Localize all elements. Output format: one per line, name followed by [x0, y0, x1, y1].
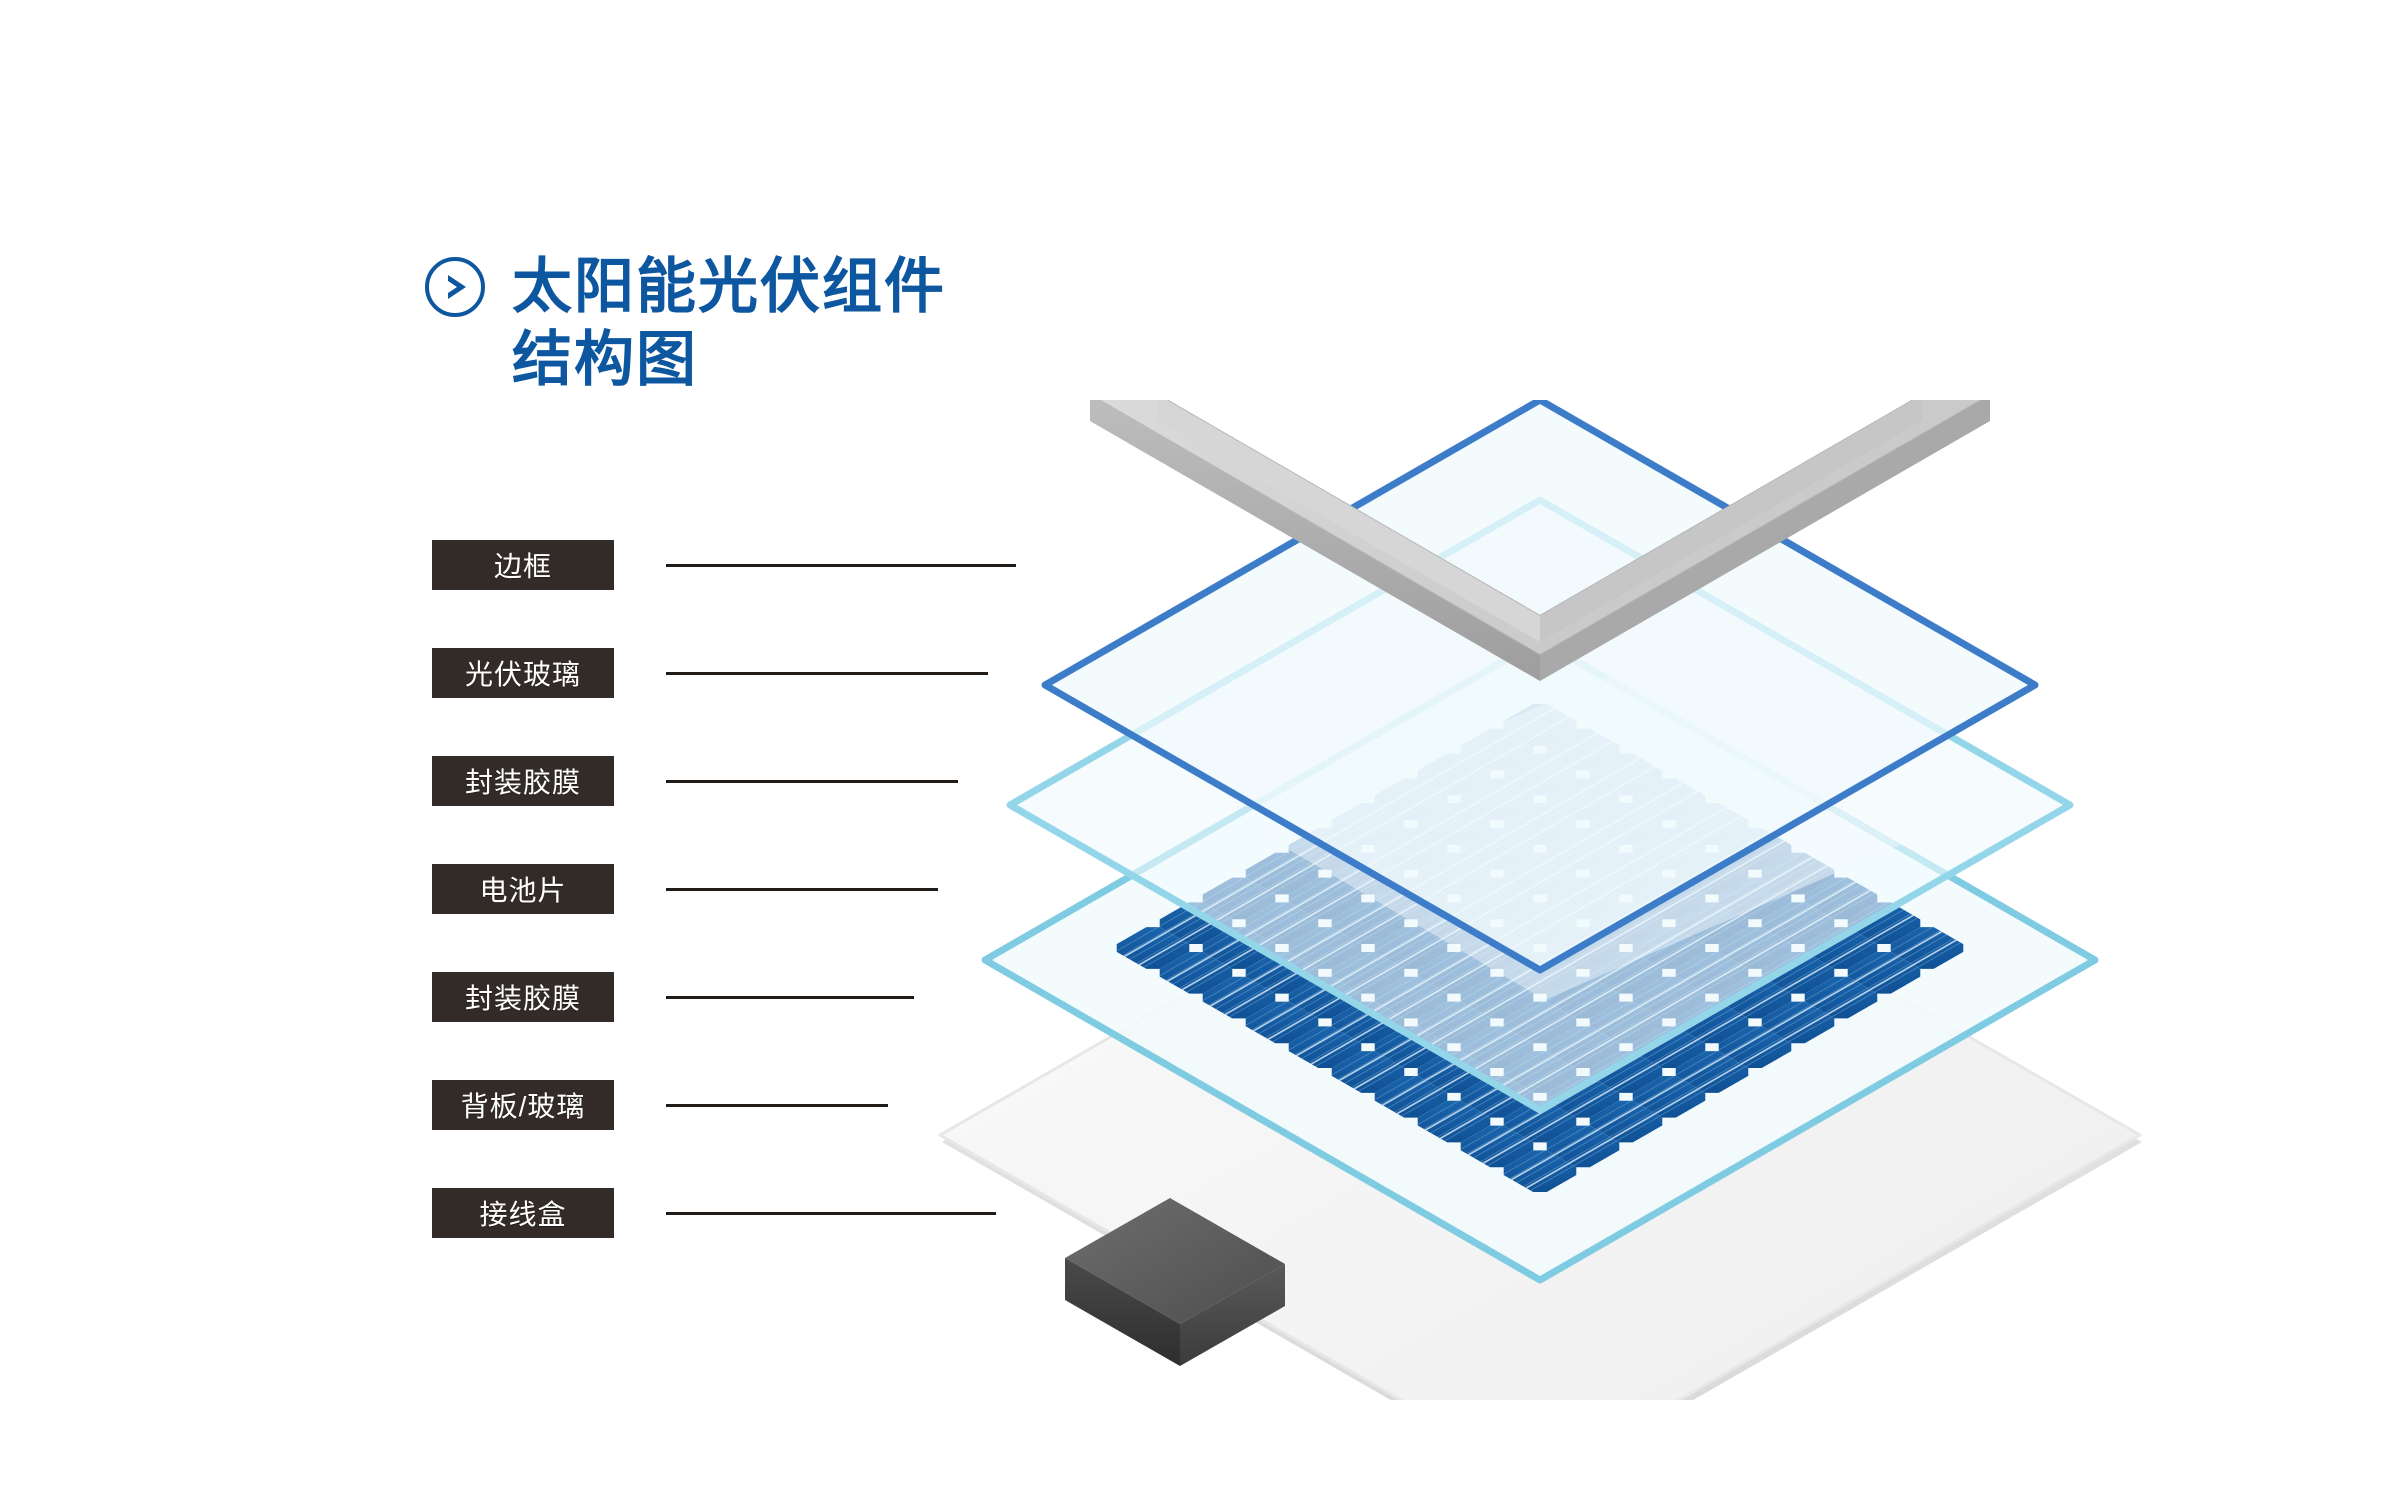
label-chip-junction-box: 接线盒 — [432, 1188, 614, 1238]
leader-line-encapsulant-bottom — [666, 996, 914, 999]
label-row-encapsulant-bottom[interactable]: 封装胶膜 — [432, 972, 914, 1022]
label-chip-frame: 边框 — [432, 540, 614, 590]
label-chip-pv-glass: 光伏玻璃 — [432, 648, 614, 698]
label-row-backsheet[interactable]: 背板/玻璃 — [432, 1080, 888, 1130]
page-title-block: 太阳能光伏组件 结构图 — [424, 250, 946, 396]
label-chip-encapsulant-top: 封装胶膜 — [432, 756, 614, 806]
page-canvas: 太阳能光伏组件 结构图 边框 光伏玻璃 封装胶膜 电池片 封装胶膜 背板/玻璃 — [0, 0, 2400, 1495]
label-row-solar-cell[interactable]: 电池片 — [432, 864, 938, 914]
label-chip-encapsulant-bottom: 封装胶膜 — [432, 972, 614, 1022]
chevron-right-circle-icon — [424, 256, 486, 318]
leader-line-backsheet — [666, 1104, 888, 1107]
exploded-solar-module-diagram — [900, 400, 2150, 1405]
label-chip-solar-cell: 电池片 — [432, 864, 614, 914]
label-chip-backsheet: 背板/玻璃 — [432, 1080, 614, 1130]
leader-line-solar-cell — [666, 888, 938, 891]
label-row-encapsulant-top[interactable]: 封装胶膜 — [432, 756, 958, 806]
page-title: 太阳能光伏组件 结构图 — [512, 250, 946, 396]
